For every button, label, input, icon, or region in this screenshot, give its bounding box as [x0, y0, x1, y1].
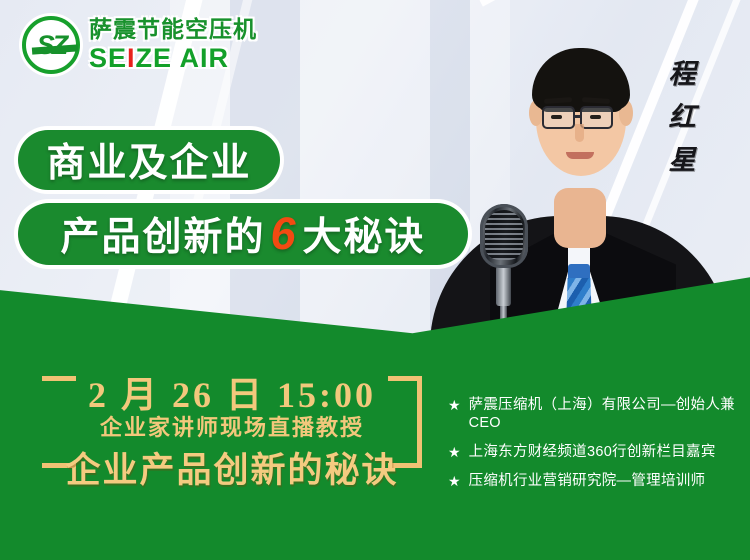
- sz-monogram-icon: SZ: [22, 16, 80, 74]
- list-item: ★ 萨震压缩机（上海）有限公司—创始人兼CEO: [448, 396, 740, 432]
- headline-line-2-part1: 产品创新的: [60, 206, 265, 262]
- speaker-name-vertical: 程 红 星: [662, 52, 702, 177]
- brand-name-en-part2: ZE AIR: [136, 43, 230, 73]
- brand-name-en-accent: I: [127, 43, 136, 73]
- speaker-name-char: 红: [669, 95, 696, 134]
- star-icon: ★: [448, 396, 461, 414]
- credential-text: 上海东方财经频道360行创新栏目嘉宾: [469, 443, 716, 461]
- webinar-poster: SZ 萨震节能空压机 SEIZE AIR 商业及企业 产品创新的6大秘诀 程 红…: [0, 0, 750, 560]
- brand-logo: SZ 萨震节能空压机 SEIZE AIR: [22, 16, 257, 74]
- star-icon: ★: [448, 472, 461, 490]
- brand-name-en-part1: SE: [89, 43, 127, 73]
- credential-text: 压缩机行业营销研究院—管理培训师: [469, 472, 706, 490]
- speaker-credentials: ★ 萨震压缩机（上海）有限公司—创始人兼CEO ★ 上海东方财经频道360行创新…: [448, 396, 740, 501]
- brand-logo-text: 萨震节能空压机 SEIZE AIR: [89, 18, 257, 72]
- credential-text: 萨震压缩机（上海）有限公司—创始人兼CEO: [469, 396, 740, 432]
- list-item: ★ 压缩机行业营销研究院—管理培训师: [448, 472, 740, 490]
- event-topic: 企业产品创新的秘诀: [42, 442, 422, 493]
- microphone-grill: [485, 210, 523, 260]
- neck: [554, 188, 606, 248]
- eyeglasses-bridge: [575, 115, 582, 118]
- event-details-block: 2 月 26 日 15:00 企业家讲师现场直播教授 企业产品创新的秘诀: [42, 362, 422, 490]
- microphone-neck: [496, 266, 511, 306]
- headline-pill-2: 产品创新的6大秘诀: [18, 203, 468, 265]
- brand-name-en: SEIZE AIR: [89, 45, 257, 72]
- headline-pill-1: 商业及企业: [18, 130, 280, 190]
- eye-right: [590, 115, 601, 119]
- headline-number: 6: [265, 208, 302, 260]
- speaker-name-char: 程: [669, 52, 696, 91]
- mouth: [566, 152, 594, 159]
- headline-line-2-part2: 大秘诀: [303, 206, 426, 262]
- brand-name-cn: 萨震节能空压机: [89, 18, 257, 41]
- nose: [575, 124, 584, 142]
- list-item: ★ 上海东方财经频道360行创新栏目嘉宾: [448, 443, 740, 461]
- speaker-name-char: 星: [669, 138, 696, 177]
- event-subtitle: 企业家讲师现场直播教授: [42, 410, 422, 442]
- eye-left: [551, 115, 562, 119]
- headline-line-1: 商业及企业: [46, 132, 251, 188]
- star-icon: ★: [448, 443, 461, 461]
